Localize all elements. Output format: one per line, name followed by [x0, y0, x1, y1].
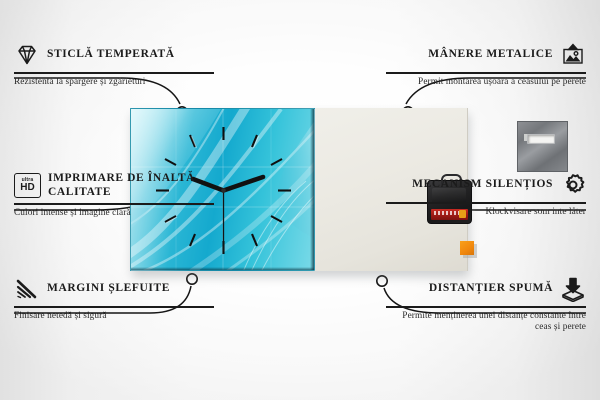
- callout-title: MÂNERE METALICE: [428, 48, 553, 62]
- callout-polished-edges: MARGINI ȘLEFUITE Finisare netedă și sigu…: [14, 276, 214, 322]
- callout-tempered-glass: STICLĂ TEMPERATĂ Rezistentă la spargere …: [14, 42, 214, 88]
- callout-silent-mechanism: MECANISM SILENȚIOS Klockvisare som inte …: [386, 172, 586, 218]
- callout-foam-spacer: DISTANȚIER SPUMĂ Permite menținerea unei…: [386, 276, 586, 334]
- callout-header: MÂNERE METALICE: [386, 42, 586, 68]
- press-down-icon: [560, 276, 586, 302]
- infographic-canvas: STICLĂ TEMPERATĂ Rezistentă la spargere …: [0, 0, 600, 400]
- diamond-icon: [14, 42, 40, 68]
- glass-right-edge: [310, 109, 314, 271]
- glass-bottom-edge: [131, 267, 315, 270]
- callout-title: MECANISM SILENȚIOS: [412, 178, 553, 192]
- foam-spacer: [460, 241, 474, 255]
- callout-rule: [14, 306, 214, 308]
- ultra-hd-bottom: HD: [20, 183, 34, 193]
- callout-rule: [386, 202, 586, 204]
- picture-frame-icon: [560, 42, 586, 68]
- callout-rule: [14, 203, 214, 205]
- callout-desc: Rezistentă la spargere și zgârieturi: [14, 77, 214, 89]
- callout-rule: [386, 306, 586, 308]
- metal-hanger: [517, 121, 568, 172]
- hanger-slot: [527, 134, 555, 144]
- callout-header: DISTANȚIER SPUMĂ: [386, 276, 586, 302]
- callout-high-quality-print: ultra HD IMPRIMARE DE ÎNALTĂ CALITATE Cu…: [14, 172, 214, 219]
- callout-header: MARGINI ȘLEFUITE: [14, 276, 214, 302]
- polished-edge-icon: [14, 276, 40, 302]
- callout-desc: Permit montarea ușoară a ceasului pe per…: [386, 77, 586, 89]
- callout-title: IMPRIMARE DE ÎNALTĂ CALITATE: [48, 172, 214, 199]
- minute-hand: [224, 177, 264, 191]
- callout-header: MECANISM SILENȚIOS: [386, 172, 586, 198]
- ultra-hd-icon: ultra HD: [14, 173, 41, 198]
- callout-desc: Klockvisare som inte låter: [386, 207, 586, 219]
- gear-icon: [560, 172, 586, 198]
- callout-metal-handles: MÂNERE METALICE Permit montarea ușoară a…: [386, 42, 586, 88]
- callout-rule: [14, 72, 214, 74]
- callout-header: ultra HD IMPRIMARE DE ÎNALTĂ CALITATE: [14, 172, 214, 199]
- callout-desc: Finisare netedă și sigură: [14, 311, 214, 323]
- clock-center-cap: [221, 188, 226, 193]
- callout-header: STICLĂ TEMPERATĂ: [14, 42, 214, 68]
- callout-desc: Culori intense și imagine clară: [14, 208, 214, 220]
- callout-title: MARGINI ȘLEFUITE: [47, 282, 170, 296]
- callout-rule: [386, 72, 586, 74]
- callout-title: DISTANȚIER SPUMĂ: [429, 282, 553, 296]
- callout-desc: Permite menținerea unei distanțe constan…: [386, 311, 586, 334]
- callout-title: STICLĂ TEMPERATĂ: [47, 48, 175, 62]
